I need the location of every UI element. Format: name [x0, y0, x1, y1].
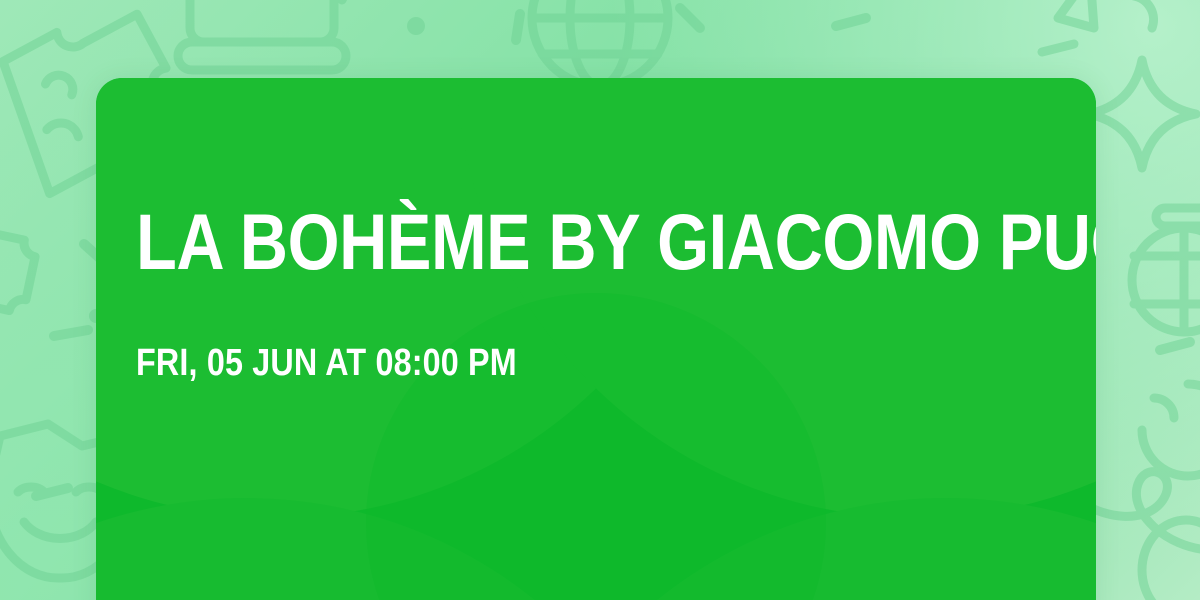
piano-icon — [178, 0, 346, 70]
event-title: LA BOHÈME BY GIACOMO PUCCINI — [136, 202, 1096, 281]
event-banner: LA BOHÈME BY GIACOMO PUCCINI FRI, 05 JUN… — [0, 0, 1200, 600]
sparkle-icon — [1088, 60, 1196, 168]
event-datetime: FRI, 05 JUN AT 08:00 PM — [136, 344, 517, 382]
lantern-icon — [1132, 208, 1200, 332]
globe-icon — [532, 0, 668, 86]
ticket-icon — [0, 228, 38, 314]
confetti-icon — [1042, 0, 1154, 52]
event-card-content: LA BOHÈME BY GIACOMO PUCCINI FRI, 05 JUN… — [136, 78, 1056, 600]
event-card[interactable]: LA BOHÈME BY GIACOMO PUCCINI FRI, 05 JUN… — [96, 78, 1096, 600]
balloon-icon — [1142, 520, 1200, 600]
